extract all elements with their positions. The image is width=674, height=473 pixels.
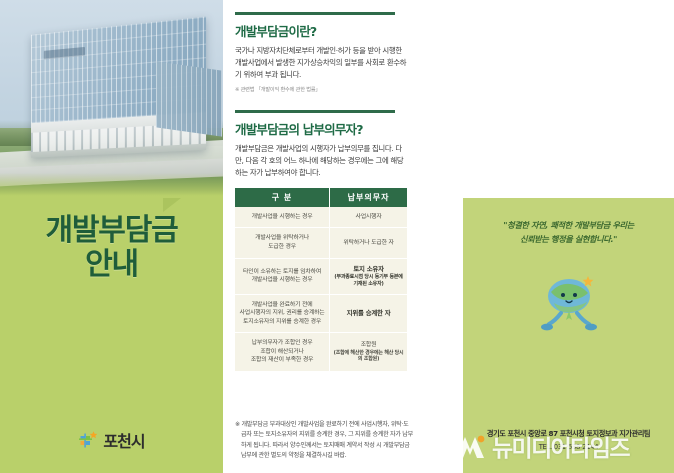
section-body-2: 개발부담금은 개발사업의 시행자가 납부의무를 집니다. 다만, 다음 각 호의… [235, 143, 407, 179]
col-header-division: 구 분 [235, 188, 330, 207]
cell-division: 개발사업을 위탁하거나 도급한 경우 [235, 228, 330, 258]
section-spacer [235, 93, 441, 110]
slogan-line1: "청결한 자연, 쾌적한 개발부담금 우리는 [503, 220, 634, 230]
corner-notch-icon [163, 198, 181, 212]
cell-division: 개발사업을 시행하는 경우 [235, 207, 330, 228]
cell-payer-main: 토지 소유자 [333, 265, 404, 274]
page-title-line1: 개발부담금 [46, 213, 178, 248]
cell-payer-main: 조합원 [333, 341, 404, 350]
table-row: 개발사업을 위탁하거나 도급한 경우 위탁하거나 도급한 자 [235, 228, 407, 258]
cell-line: 납부의무자가 조합인 경우 [238, 339, 326, 348]
slogan: "청결한 자연, 쾌적한 개발부담금 우리는 신뢰받는 행정을 실현합니다." [463, 218, 674, 247]
building-wing [156, 61, 222, 136]
right-green-card: "청결한 자연, 쾌적한 개발부담금 우리는 신뢰받는 행정을 실현합니다." [463, 198, 674, 473]
cell-payer: 위탁하거나 도급한 자 [330, 228, 407, 258]
table-header-row: 구 분 납부의무자 [235, 188, 407, 207]
cell-line: 사업시행자의 지위, 권리를 승계하는 [238, 309, 326, 318]
building-signage [44, 47, 85, 60]
cell-line: 토지소유자의 지위를 승계한 경우 [238, 318, 326, 327]
cell-line: 도급한 경우 [238, 243, 326, 252]
section-body-1: 국가나 지방자치단체로부터 개발인·허가 등을 받아 시행한 개발사업에서 발생… [235, 45, 407, 81]
col-header-payer: 납부의무자 [330, 188, 407, 207]
hash-star-logo-icon [78, 429, 100, 451]
slogan-line2: 신뢰받는 행정을 실현합니다." [520, 234, 617, 244]
cell-line: 조합이 해산되거나 [238, 348, 326, 357]
table-head: 구 분 납부의무자 [235, 188, 407, 207]
cell-payer-sub: (조합에 해산한 경우에는 해산 당시의 조합원) [333, 350, 404, 364]
section-heading-1: 개발부담금이란? [235, 21, 441, 40]
cell-payer: 지위를 승계한 자 [330, 294, 407, 333]
content-panel: 개발부담금이란? 국가나 지방자치단체로부터 개발인·허가 등을 받아 시행한 … [223, 0, 451, 473]
cell-line: 개발사업을 시행하는 경우 [238, 276, 326, 285]
table-row: 개발사업을 시행하는 경우 사업시행자 [235, 207, 407, 228]
cell-division: 개발사업을 완료하기 전에 사업시행자의 지위, 권리를 승계하는 토지소유자의… [235, 294, 330, 333]
left-cover-panel: 개발부담금 안내 포천시 [0, 0, 223, 473]
payer-table: 구 분 납부의무자 개발사업을 시행하는 경우 사업시행자 개발사업을 위탁하거… [235, 188, 407, 371]
office-telephone: TEL. 031-538-2144 [463, 443, 674, 451]
table-row: 개발사업을 완료하기 전에 사업시행자의 지위, 권리를 승계하는 토지소유자의… [235, 294, 407, 333]
contact-footer: 경기도 포천시 중앙로 87 포천시청 토지정보과 지가관리팀 TEL. 031… [463, 429, 674, 451]
brand-name: 포천시 [103, 434, 144, 451]
cell-payer-sub: (부과종료시점 당시 등기부 등본에 기재된 소유자) [333, 274, 404, 288]
page-title: 개발부담금 안내 [0, 214, 223, 281]
footnote: ※ 개발부담금 부과대상인 개발사업을 완료하기 전에 사업시행자, 위탁·도급… [235, 420, 413, 461]
cell-payer: 조합원 (조합에 해산한 경우에는 해산 당시의 조합원) [330, 333, 407, 371]
cell-line: 개발사업을 위탁하거나 [238, 234, 326, 243]
section-rule-1 [235, 12, 395, 15]
right-back-panel: "청결한 자연, 쾌적한 개발부담금 우리는 신뢰받는 행정을 실현합니다." [451, 0, 674, 473]
brochure-page: 개발부담금 안내 포천시 개발부담금이란? 국가나 지방자치단체로부터 개발인 [0, 0, 674, 473]
cell-division: 타인이 소유하는 토지를 임차하여 개발사업을 시행하는 경우 [235, 258, 330, 294]
cell-payer: 사업시행자 [330, 207, 407, 228]
cell-line: 타인이 소유하는 토지를 임차하여 [238, 268, 326, 277]
office-address: 경기도 포천시 중앙로 87 포천시청 토지정보과 지가관리팀 [463, 429, 674, 440]
table-row: 납부의무자가 조합인 경우 조합이 해산되거나 조합의 재산이 부족한 경우 조… [235, 333, 407, 371]
section-rule-2 [235, 110, 395, 113]
section-note-1: ※ 관련법 「개발이익 환수에 관한 법률」 [235, 86, 441, 93]
table-row: 타인이 소유하는 토지를 임차하여 개발사업을 시행하는 경우 토지 소유자 (… [235, 258, 407, 294]
cell-line: 개발사업을 완료하기 전에 [238, 301, 326, 310]
pocheon-brand-logo: 포천시 [0, 429, 223, 451]
section-heading-2: 개발부담금의 납부의무자? [235, 119, 441, 138]
cell-payer: 토지 소유자 (부과종료시점 당시 등기부 등본에 기재된 소유자) [330, 258, 407, 294]
pocheon-mascot-icon [532, 270, 606, 340]
table-body: 개발사업을 시행하는 경우 사업시행자 개발사업을 위탁하거나 도급한 경우 위… [235, 207, 407, 371]
photo-fade-overlay [0, 173, 223, 199]
cell-division: 납부의무자가 조합인 경우 조합이 해산되거나 조합의 재산이 부족한 경우 [235, 333, 330, 371]
cell-line: 조합의 재산이 부족한 경우 [238, 356, 326, 365]
page-title-line2: 안내 [0, 248, 223, 282]
building-photo [0, 0, 223, 199]
